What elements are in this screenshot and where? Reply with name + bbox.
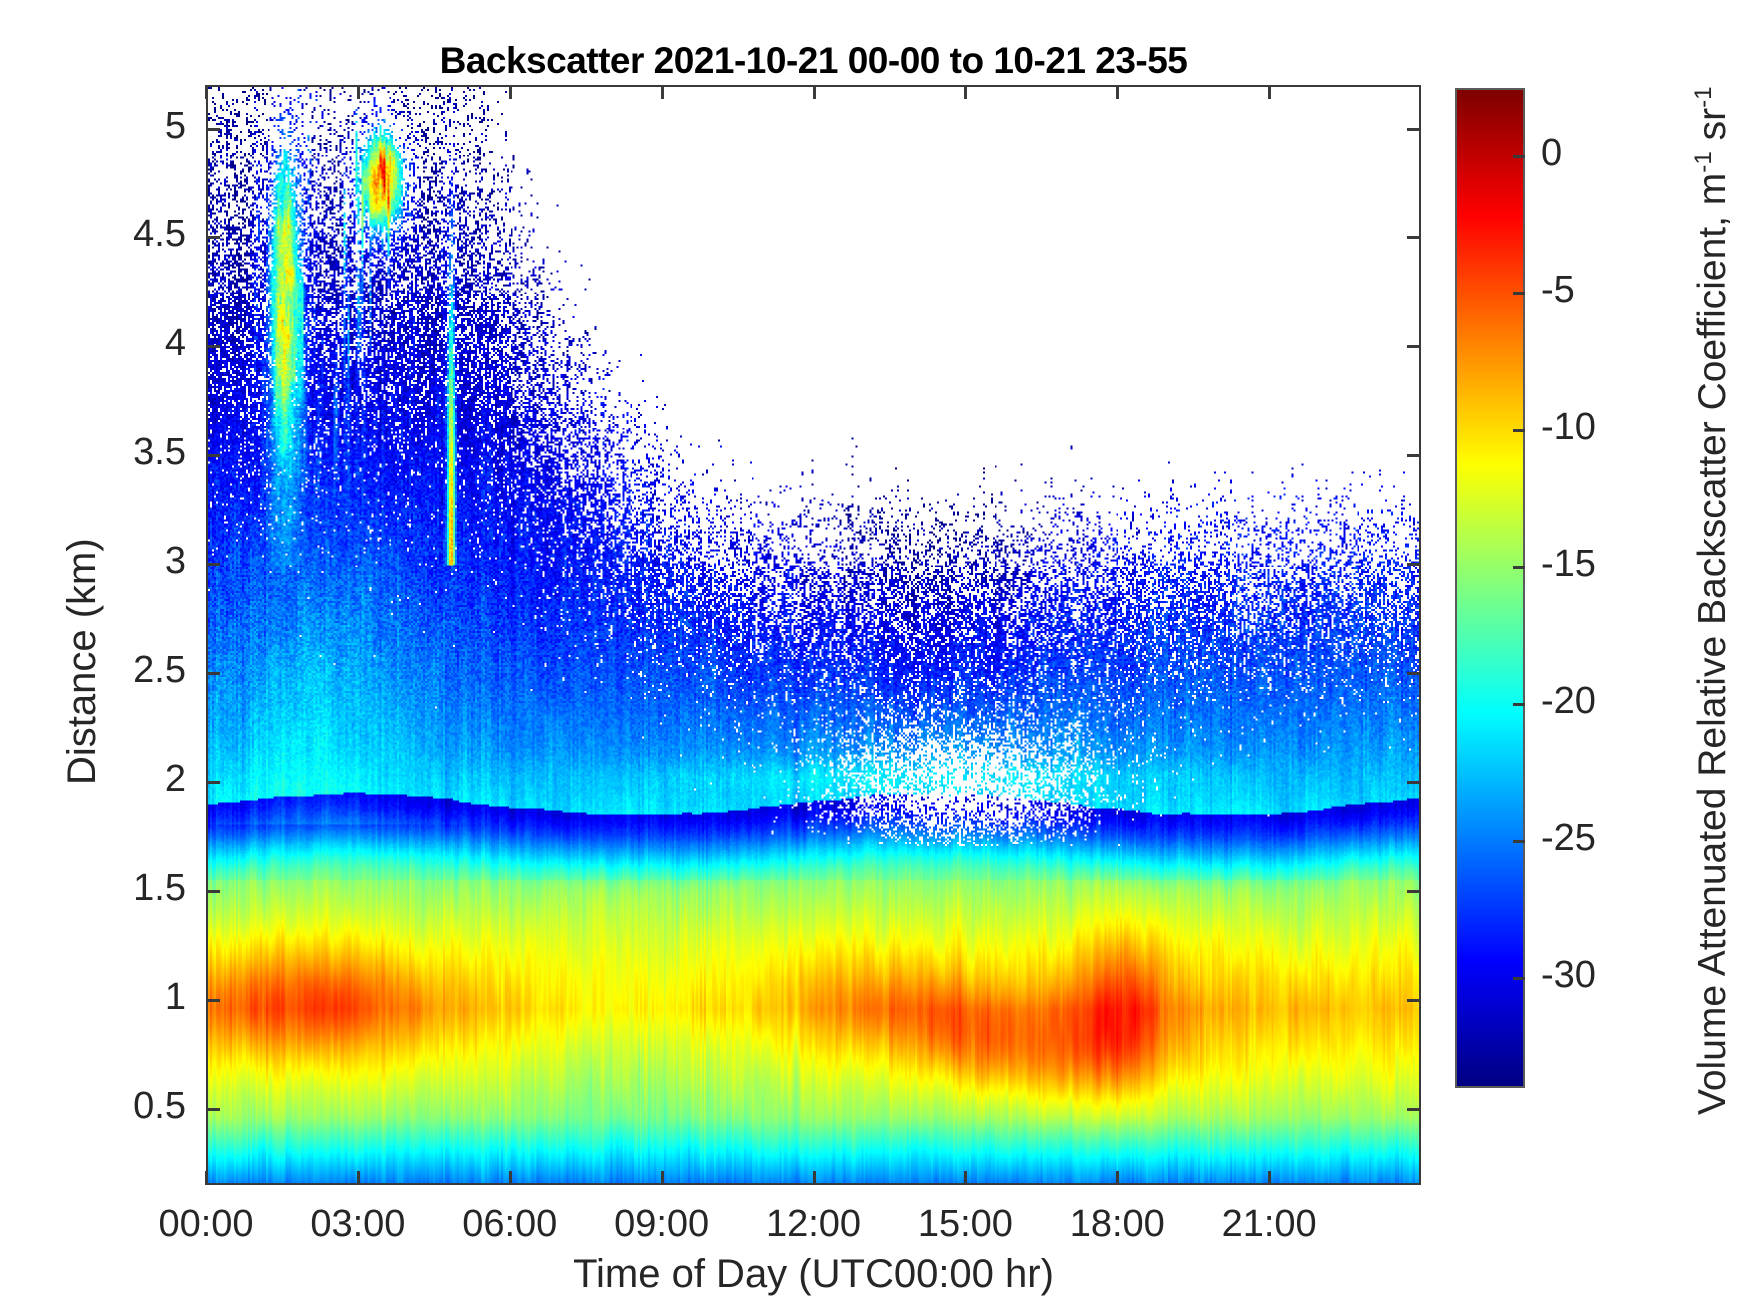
colorbar-tick-mark bbox=[1513, 703, 1525, 706]
x-tick-mark bbox=[1116, 1171, 1119, 1185]
y-tick-mark bbox=[206, 672, 220, 675]
page-title: Backscatter 2021-10-21 00-00 to 10-21 23… bbox=[206, 40, 1421, 82]
y-tick-mark bbox=[206, 999, 220, 1002]
x-tick-mark bbox=[964, 1171, 967, 1185]
colorbar-tick-label: -30 bbox=[1541, 954, 1596, 997]
x-tick-mark bbox=[509, 1171, 512, 1185]
x-tick-mark-top bbox=[1268, 85, 1271, 99]
x-tick-mark-top bbox=[1116, 85, 1119, 99]
x-tick-mark-top bbox=[964, 85, 967, 99]
x-tick-mark bbox=[205, 1171, 208, 1185]
x-tick-mark-top bbox=[813, 85, 816, 99]
colorbar-tick-label: -25 bbox=[1541, 817, 1596, 860]
colorbar-tick-mark bbox=[1513, 840, 1525, 843]
x-tick-mark bbox=[1268, 1171, 1271, 1185]
colorbar-tick-label: -20 bbox=[1541, 680, 1596, 723]
x-tick-mark-top bbox=[661, 85, 664, 99]
y-tick-label: 0.5 bbox=[6, 1085, 186, 1128]
colorbar-tick-mark bbox=[1513, 155, 1525, 158]
y-tick-mark-right bbox=[1407, 890, 1421, 893]
x-tick-mark bbox=[357, 1171, 360, 1185]
y-tick-mark-right bbox=[1407, 781, 1421, 784]
colorbar[interactable] bbox=[1455, 88, 1525, 1088]
y-tick-mark-right bbox=[1407, 999, 1421, 1002]
y-tick-mark-right bbox=[1407, 236, 1421, 239]
heatmap-canvas[interactable] bbox=[208, 87, 1419, 1183]
y-tick-label: 3 bbox=[6, 540, 186, 583]
y-tick-mark bbox=[206, 454, 220, 457]
colorbar-tick-mark bbox=[1513, 429, 1525, 432]
colorbar-tick-label: -15 bbox=[1541, 543, 1596, 586]
x-tick-mark-top bbox=[357, 85, 360, 99]
y-tick-label: 2 bbox=[6, 758, 186, 801]
colorbar-tick-label: -10 bbox=[1541, 406, 1596, 449]
heatmap-plot-area[interactable] bbox=[206, 85, 1421, 1185]
y-tick-mark-right bbox=[1407, 345, 1421, 348]
y-tick-mark bbox=[206, 563, 220, 566]
x-tick-label: 21:00 bbox=[1179, 1203, 1359, 1246]
backscatter-figure: Backscatter 2021-10-21 00-00 to 10-21 23… bbox=[0, 0, 1750, 1313]
y-tick-mark bbox=[206, 1108, 220, 1111]
y-tick-mark bbox=[206, 781, 220, 784]
y-tick-label: 3.5 bbox=[6, 431, 186, 474]
colorbar-title: Volume Attenuated Relative Backscatter C… bbox=[1690, 86, 1735, 1115]
y-tick-mark-right bbox=[1407, 128, 1421, 131]
y-tick-label: 4.5 bbox=[6, 213, 186, 256]
x-axis-title: Time of Day (UTC00:00 hr) bbox=[206, 1252, 1421, 1297]
colorbar-tick-mark bbox=[1513, 566, 1525, 569]
colorbar-gradient bbox=[1457, 90, 1523, 1086]
y-tick-mark-right bbox=[1407, 454, 1421, 457]
colorbar-tick-label: -5 bbox=[1541, 269, 1575, 312]
y-tick-mark-right bbox=[1407, 563, 1421, 566]
y-tick-mark bbox=[206, 236, 220, 239]
x-tick-mark-top bbox=[509, 85, 512, 99]
colorbar-tick-mark bbox=[1513, 292, 1525, 295]
y-tick-mark-right bbox=[1407, 672, 1421, 675]
colorbar-tick-mark bbox=[1513, 977, 1525, 980]
y-tick-label: 1.5 bbox=[6, 867, 186, 910]
y-tick-label: 5 bbox=[6, 105, 186, 148]
y-tick-label: 4 bbox=[6, 322, 186, 365]
y-tick-mark bbox=[206, 345, 220, 348]
colorbar-tick-label: 0 bbox=[1541, 132, 1562, 175]
y-tick-mark-right bbox=[1407, 1108, 1421, 1111]
x-tick-mark-top bbox=[205, 85, 208, 99]
x-tick-mark bbox=[813, 1171, 816, 1185]
y-tick-mark bbox=[206, 128, 220, 131]
y-tick-mark bbox=[206, 890, 220, 893]
x-tick-mark bbox=[661, 1171, 664, 1185]
y-tick-label: 1 bbox=[6, 976, 186, 1019]
y-tick-label: 2.5 bbox=[6, 649, 186, 692]
